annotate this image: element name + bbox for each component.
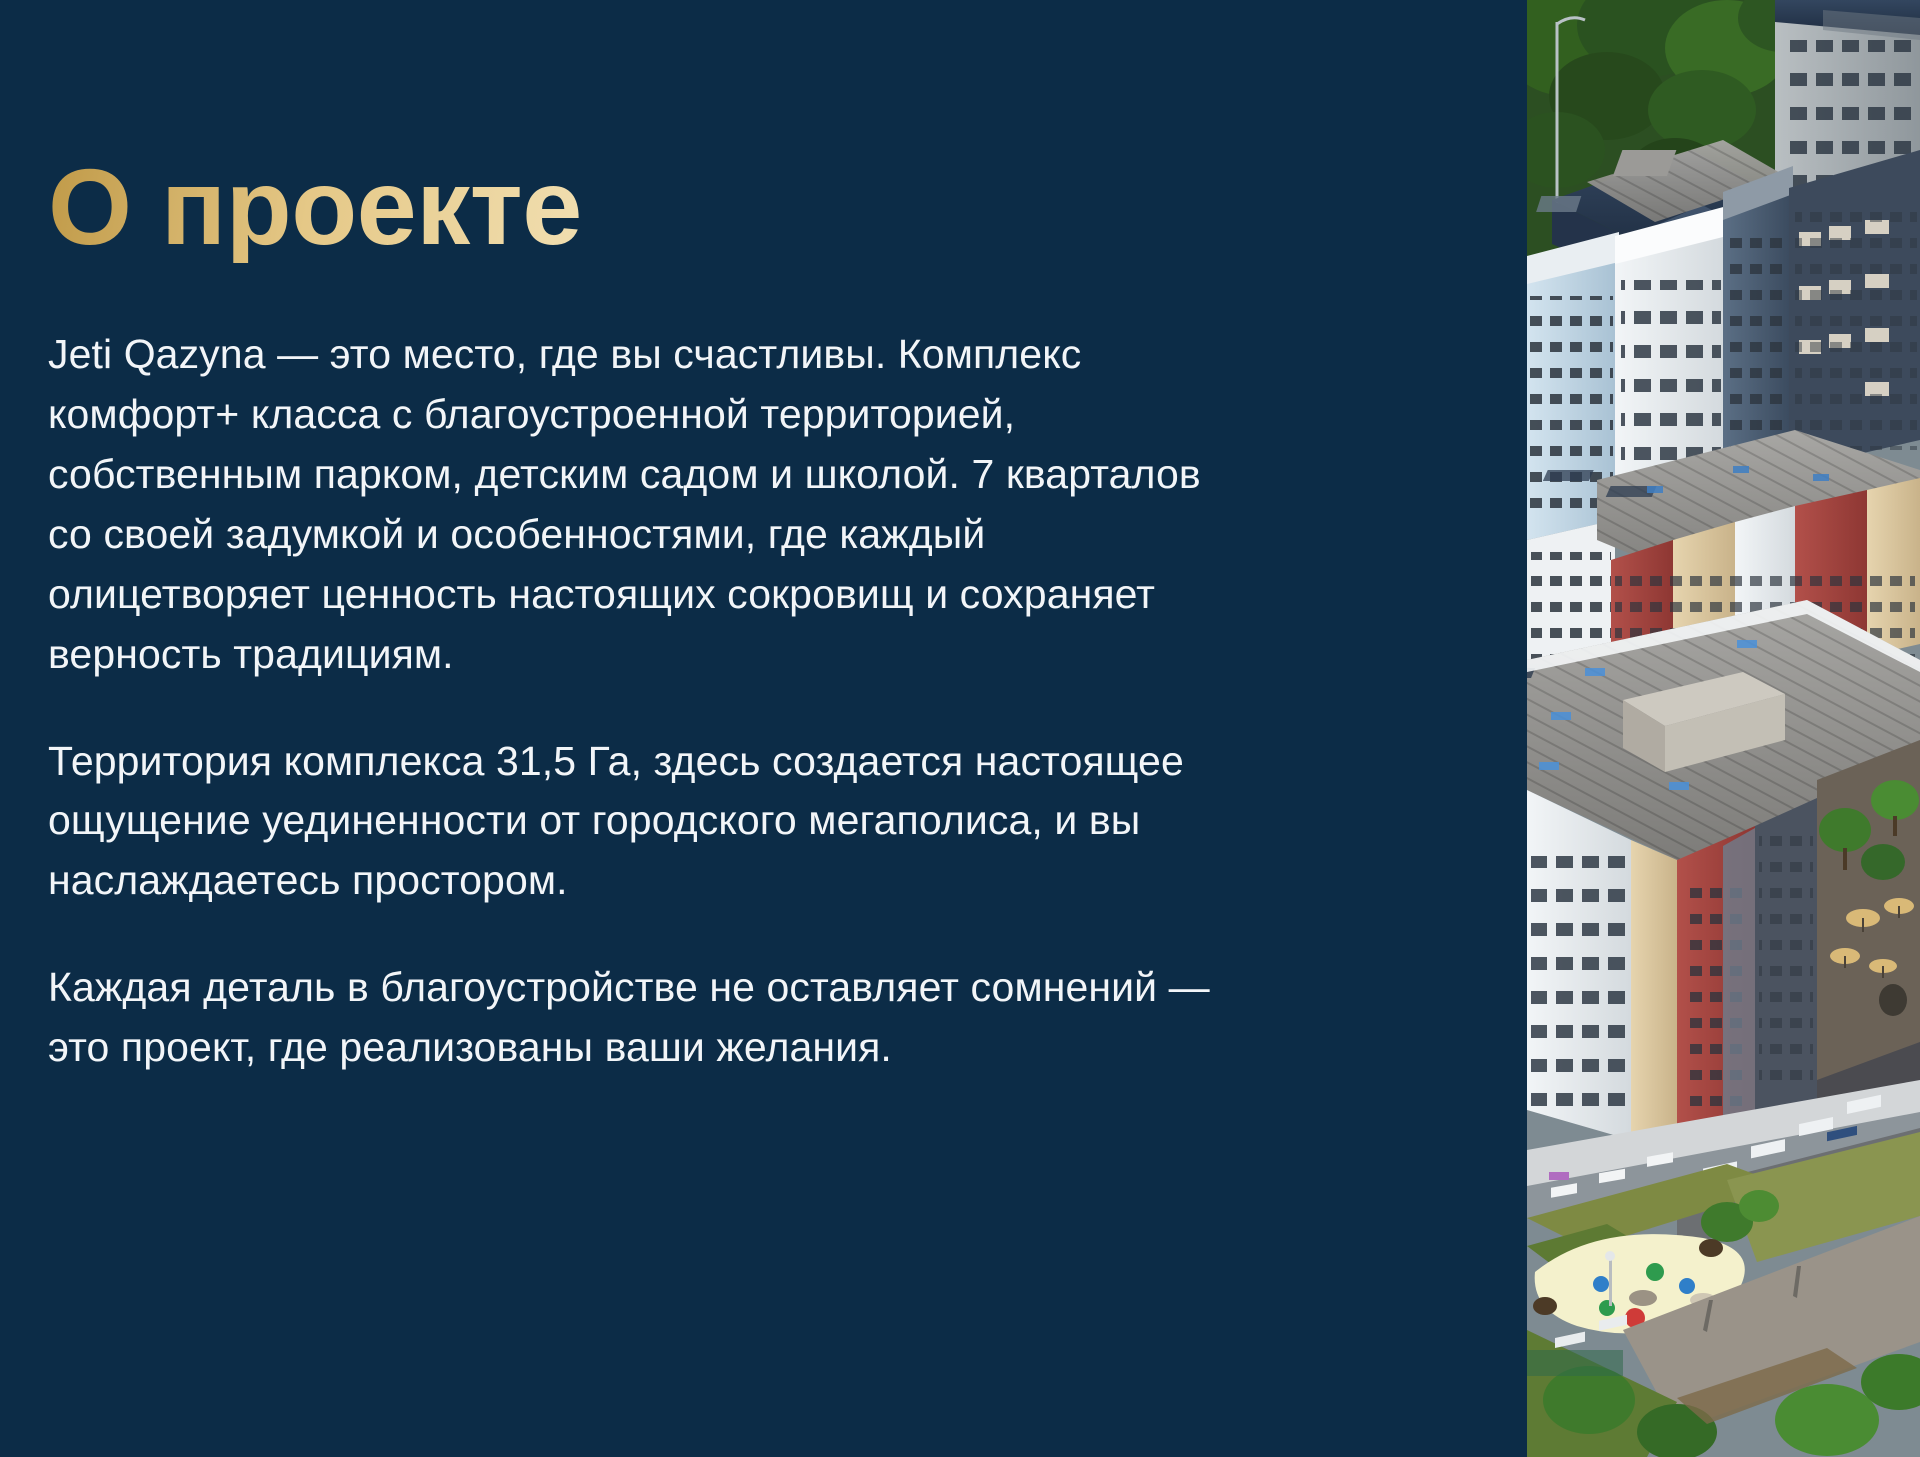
body-copy: Jeti Qazyna — это место, где вы счастлив… [48, 325, 1228, 1077]
paragraph-territory: Территория комплекса 31,5 Га, здесь созд… [48, 732, 1228, 912]
content-pane: О проекте Jeti Qazyna — это место, где в… [0, 0, 1527, 1457]
paragraph-intro: Jeti Qazyna — это место, где вы счастлив… [48, 325, 1228, 684]
paragraph-details: Каждая деталь в благоустройстве не остав… [48, 958, 1228, 1078]
slide-root: О проекте Jeti Qazyna — это место, где в… [0, 0, 1920, 1457]
aerial-render-image [1527, 0, 1920, 1457]
page-title: О проекте [48, 150, 1527, 263]
